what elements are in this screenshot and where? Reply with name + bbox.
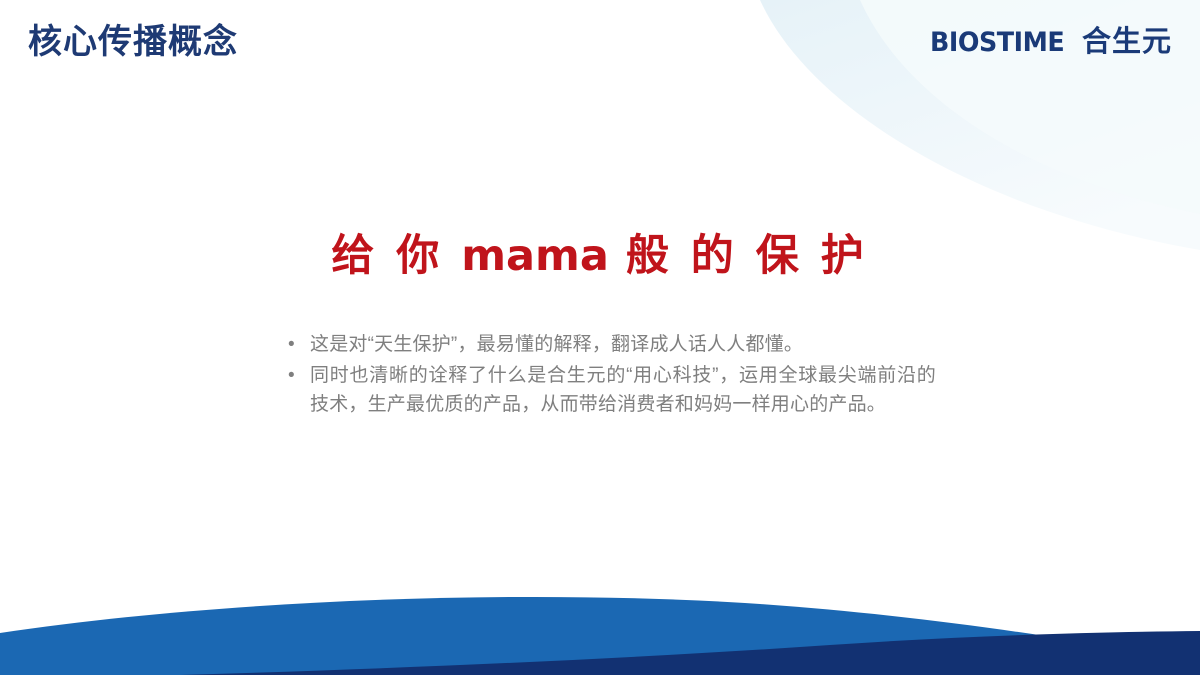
bullet-text: 这是对“天生保护”，最易懂的解释，翻译成人话人人都懂。 (310, 330, 936, 359)
list-item: • 同时也清晰的诠释了什么是合生元的“用心科技”，运用全球最尖端前沿的技术，生产… (286, 361, 936, 419)
logo-wordmark-biostime: BIOSTIME (930, 29, 1064, 62)
bullet-marker-icon: • (286, 361, 310, 390)
wave-navy (180, 631, 1200, 675)
bullet-text: 同时也清晰的诠释了什么是合生元的“用心科技”，运用全球最尖端前沿的技术，生产最优… (310, 361, 936, 419)
headline: 给 你 mama 般 的 保 护 (0, 232, 1200, 281)
list-item: • 这是对“天生保护”，最易懂的解释，翻译成人话人人都懂。 (286, 330, 936, 359)
headline-part-after: 般 的 保 护 (609, 232, 869, 280)
wave-blue (0, 597, 1200, 675)
bullet-list: • 这是对“天生保护”，最易懂的解释，翻译成人话人人都懂。 • 同时也清晰的诠释… (286, 330, 936, 421)
wave-orange (870, 641, 1200, 675)
orange-swoosh-icon (930, 54, 1064, 61)
headline-latin-word: mama (461, 231, 609, 281)
bullet-marker-icon: • (286, 330, 310, 359)
page-title: 核心传播概念 (28, 24, 238, 61)
brand-logo: BIOSTIME 合生元 (930, 28, 1172, 62)
headline-part-before: 给 你 (331, 232, 461, 280)
slide-canvas: 核心传播概念 BIOSTIME 合生元 给 你 mama 般 的 保 护 • 这… (0, 0, 1200, 675)
logo-chinese-name: 合生元 (1082, 28, 1172, 62)
